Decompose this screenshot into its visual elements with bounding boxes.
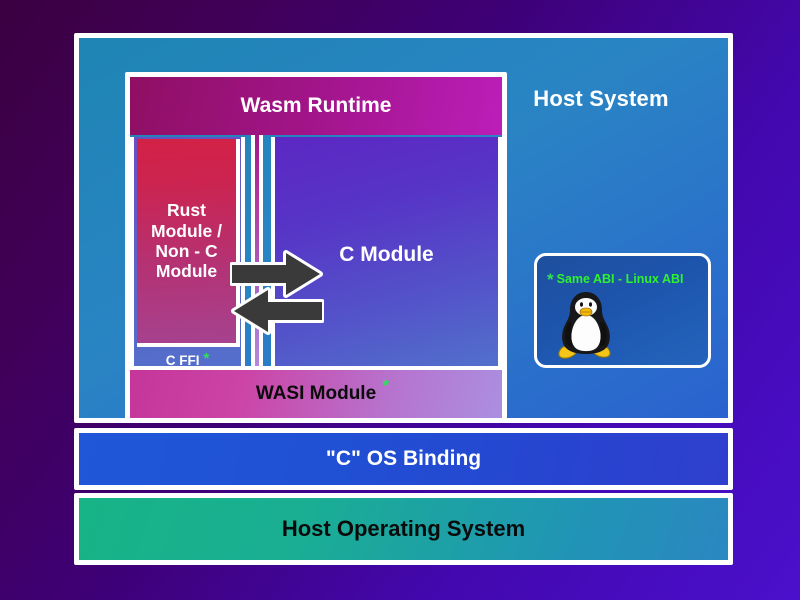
c-module-box: C Module [271, 137, 502, 376]
wasm-runtime-box: Wasm Runtime Rust Module / Non - C Modul… [125, 72, 507, 423]
c-ffi-panel: Rust Module / Non - C Module C FFI* [130, 137, 245, 376]
c-ffi-asterisk-marker: * [203, 350, 209, 367]
host-system-box: Host System Wasm Runtime Rust Module / N… [74, 33, 733, 423]
c-os-binding-label: "C" OS Binding [326, 447, 481, 471]
rust-module-line-3: Non - C [155, 241, 217, 261]
wasi-module-box: WASI Module* [130, 366, 502, 418]
runtime-middle-row: Rust Module / Non - C Module C FFI* C Mo… [130, 135, 502, 376]
rust-module-line-4: Module [156, 261, 217, 281]
linux-abi-callout: *Same ABI - Linux ABI [534, 253, 711, 368]
c-os-binding-box: "C" OS Binding [74, 428, 733, 490]
rust-module-line-2: Module / [151, 221, 222, 241]
ffi-channel-strip [251, 135, 263, 376]
rust-module-line-1: Rust [167, 200, 206, 220]
tux-penguin-icon [555, 289, 617, 361]
wasm-runtime-label: Wasm Runtime [241, 94, 392, 118]
wasi-asterisk-marker: * [383, 376, 390, 396]
c-module-label: C Module [339, 243, 434, 267]
diagram-canvas: Host System Wasm Runtime Rust Module / N… [0, 0, 800, 600]
host-system-label: Host System [496, 86, 706, 112]
linux-abi-asterisk-marker: * [547, 270, 554, 289]
linux-abi-text: Same ABI - Linux ABI [557, 272, 684, 286]
wasi-module-text: WASI Module [256, 383, 376, 404]
wasm-runtime-header: Wasm Runtime [130, 77, 502, 135]
host-operating-system-box: Host Operating System [74, 493, 733, 565]
host-operating-system-label: Host Operating System [282, 516, 525, 542]
rust-module-box: Rust Module / Non - C Module [137, 139, 240, 347]
rust-module-label: Rust Module / Non - C Module [151, 200, 222, 281]
linux-abi-label: *Same ABI - Linux ABI [547, 270, 684, 290]
wasi-module-label: WASI Module* [256, 383, 376, 405]
